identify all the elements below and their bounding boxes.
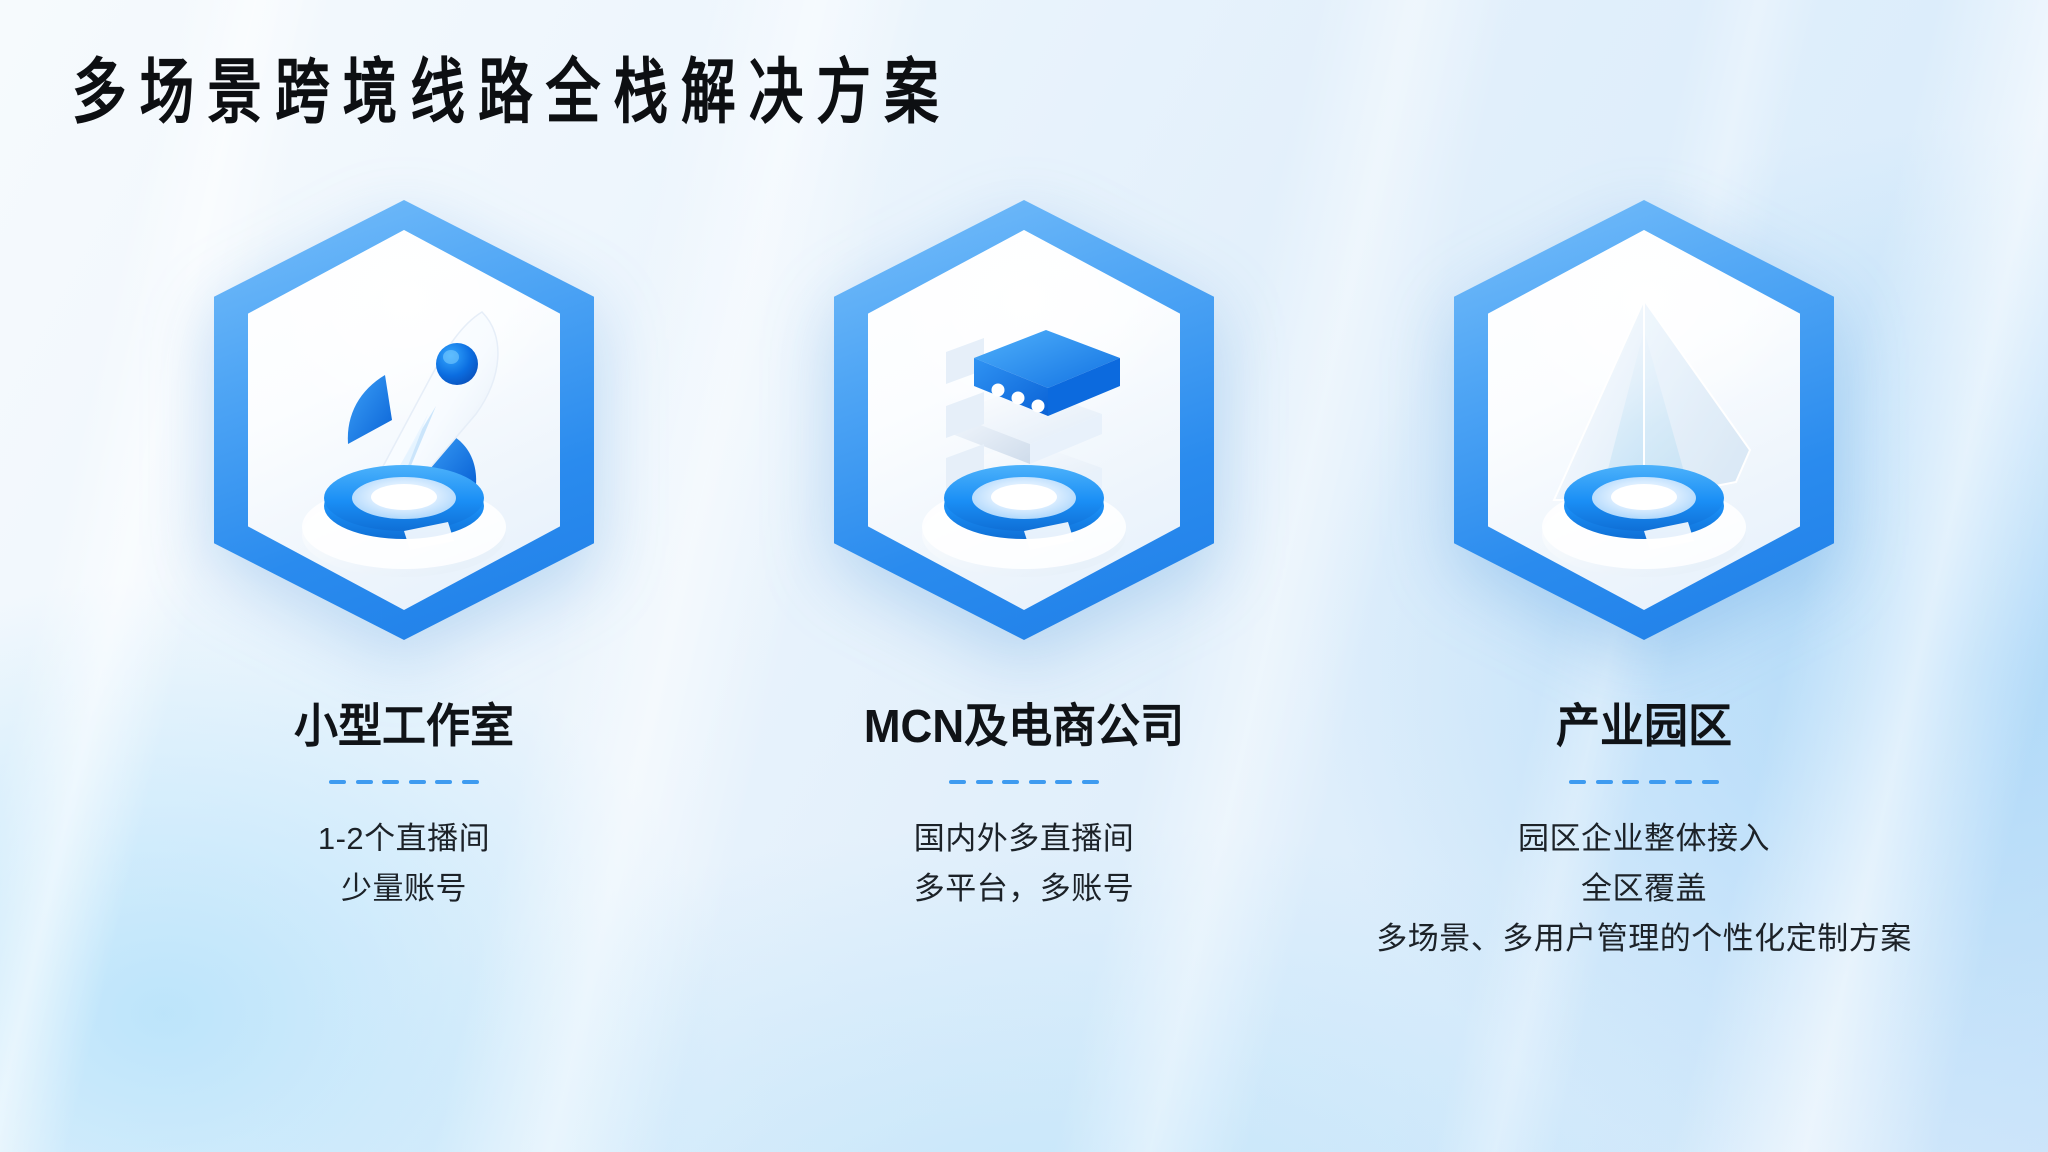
- card-title: MCN及电商公司: [864, 688, 1184, 756]
- rocket-icon: [214, 200, 594, 640]
- card-description: 园区企业整体接入 全区覆盖 多场景、多用户管理的个性化定制方案: [1376, 814, 1912, 965]
- card-description: 国内外多直播间 多平台，多账号: [914, 814, 1135, 914]
- scenario-card-industrial-park[interactable]: 产业园区 园区企业整体接入 全区覆盖 多场景、多用户管理的个性化定制方案: [1334, 200, 1954, 965]
- hexagon-badge: [1454, 200, 1834, 640]
- hexagon-badge: [834, 200, 1214, 640]
- card-line: 1-2个直播间: [318, 814, 490, 864]
- card-row: 小型工作室 1-2个直播间 少量账号: [0, 200, 2048, 965]
- card-description: 1-2个直播间 少量账号: [318, 814, 490, 914]
- card-line: 多平台，多账号: [914, 864, 1135, 914]
- card-divider: [949, 780, 1099, 784]
- card-line: 园区企业整体接入: [1376, 814, 1912, 864]
- scenario-card-small-studio[interactable]: 小型工作室 1-2个直播间 少量账号: [94, 200, 714, 965]
- card-title: 产业园区: [1556, 688, 1732, 756]
- slide-canvas: 多场景跨境线路全栈解决方案: [0, 0, 2048, 1152]
- card-line: 多场景、多用户管理的个性化定制方案: [1376, 914, 1912, 964]
- page-title: 多场景跨境线路全栈解决方案: [72, 58, 952, 129]
- hexagon-badge: [214, 200, 594, 640]
- card-line: 国内外多直播间: [914, 814, 1135, 864]
- card-divider: [1569, 780, 1719, 784]
- card-divider: [329, 780, 479, 784]
- card-title: 小型工作室: [294, 688, 514, 756]
- scenario-card-mcn-ecommerce[interactable]: MCN及电商公司 国内外多直播间 多平台，多账号: [714, 200, 1334, 965]
- card-line: 少量账号: [318, 864, 490, 914]
- server-stack-icon: [834, 200, 1214, 640]
- glass-pyramid-icon: [1454, 200, 1834, 640]
- card-line: 全区覆盖: [1376, 864, 1912, 914]
